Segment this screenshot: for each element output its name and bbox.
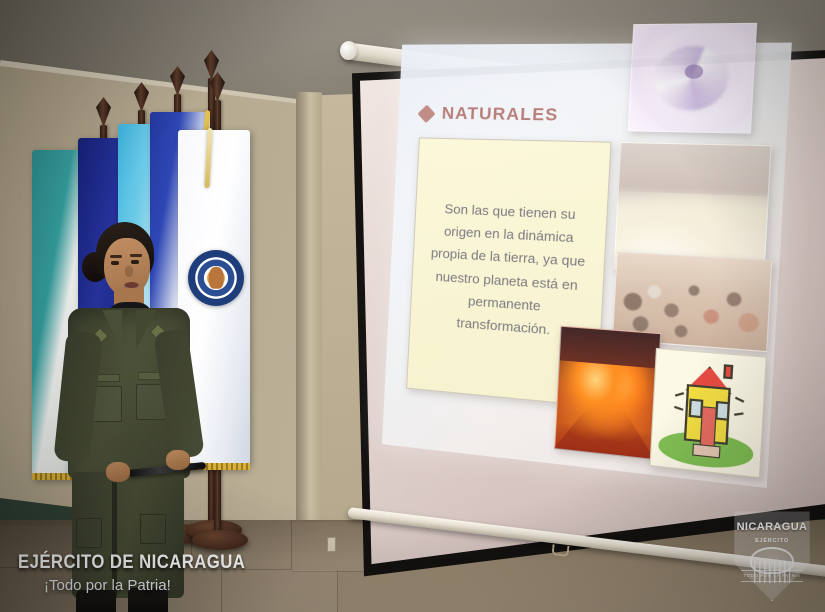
- badge-country-text: NICARAGUA: [731, 521, 813, 533]
- army-badge: NICARAGUA EJÉRCITO TODO POR LA PATRIA: [731, 510, 813, 602]
- eye-left: [111, 261, 119, 265]
- overlay-branding: EJÉRCITO DE NICARAGUA ¡Todo por la Patri…: [18, 552, 276, 594]
- hand-right: [166, 450, 190, 470]
- nose: [125, 266, 133, 277]
- slide-body-line: Son las que tienen su: [444, 199, 576, 224]
- slide-body-line: permanente: [468, 291, 542, 316]
- eye-right: [131, 260, 139, 264]
- cargo-pocket-left: [76, 518, 102, 548]
- diamond-bullet-icon: [417, 104, 435, 123]
- house-chimney: [723, 364, 733, 379]
- slide-heading: NATURALES: [420, 103, 559, 126]
- slide-heading-text: NATURALES: [441, 103, 559, 125]
- projected-slide: NATURALES Son las que tienen su origen e…: [382, 43, 792, 488]
- uniform-lapel-left: [102, 310, 122, 350]
- badge-motto-text: TODO POR LA PATRIA: [741, 570, 803, 582]
- wall-corner: [296, 92, 322, 563]
- screen-hook: [551, 544, 569, 557]
- eyebrow-right: [130, 254, 142, 257]
- cargo-pocket-right: [140, 514, 166, 544]
- slide-body-line: nuestro planeta está en: [435, 266, 578, 295]
- hurricane-eye: [685, 65, 704, 79]
- flag-base: [192, 530, 248, 550]
- hurricane-photo: [628, 23, 758, 134]
- volcano-photo: [554, 326, 661, 460]
- shake-line-icon: [675, 392, 685, 397]
- house-window-right: [715, 401, 730, 421]
- shake-line-icon: [674, 406, 684, 411]
- overlay-title: EJÉRCITO DE NICARAGUA: [18, 552, 245, 574]
- volcano-lava: [555, 361, 658, 459]
- hand-left: [106, 462, 130, 482]
- shake-line-icon: [734, 396, 744, 402]
- overlay-subtitle: ¡Todo por la Patria!: [44, 577, 276, 594]
- badge-branch-text: EJÉRCITO: [731, 538, 813, 544]
- earthquake-illustration: [649, 348, 766, 478]
- slide-body-line: origen en la dinámica: [444, 222, 574, 248]
- screenshot-root: NATURALES Son las que tienen su origen e…: [0, 0, 825, 612]
- emblem-figure: [209, 267, 224, 289]
- slide-body-line: transformación.: [456, 313, 551, 340]
- shake-line-icon: [733, 412, 743, 416]
- house-door: [700, 406, 716, 447]
- eyebrow-left: [110, 255, 122, 258]
